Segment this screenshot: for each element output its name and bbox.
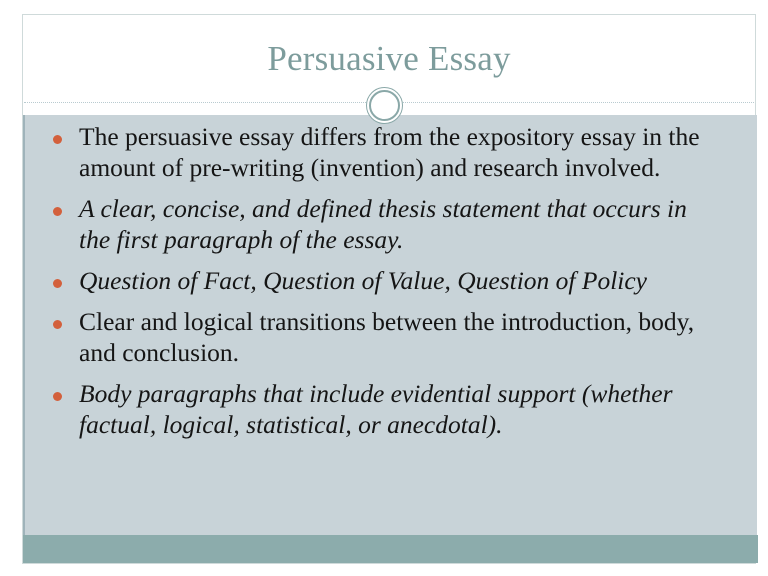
list-item-text: A clear, concise, and defined thesis sta…: [79, 193, 723, 255]
bullet-dot-icon: [53, 320, 62, 329]
list-item-text: Question of Fact, Question of Value, Que…: [79, 265, 723, 296]
bullet-dot-icon: [53, 135, 62, 144]
bottom-accent-bar: [23, 535, 758, 563]
page-title: Persuasive Essay: [23, 37, 755, 81]
list-item: Body paragraphs that include evidential …: [23, 378, 723, 440]
presentation-slide: Persuasive Essay The persuasive essay di…: [0, 0, 768, 576]
list-item-text: Body paragraphs that include evidential …: [79, 378, 723, 440]
circle-ornament-icon: [366, 87, 403, 124]
bullet-list: The persuasive essay differs from the ex…: [23, 115, 723, 442]
list-item-text: Clear and logical transitions between th…: [79, 306, 723, 368]
bullet-dot-icon: [53, 207, 62, 216]
list-item: Clear and logical transitions between th…: [23, 306, 723, 368]
list-item: A clear, concise, and defined thesis sta…: [23, 193, 723, 255]
list-item-text: The persuasive essay differs from the ex…: [79, 121, 723, 183]
bullet-dot-icon: [53, 279, 62, 288]
list-item: Question of Fact, Question of Value, Que…: [23, 265, 723, 296]
bullet-dot-icon: [53, 392, 62, 401]
list-item: The persuasive essay differs from the ex…: [23, 121, 723, 183]
